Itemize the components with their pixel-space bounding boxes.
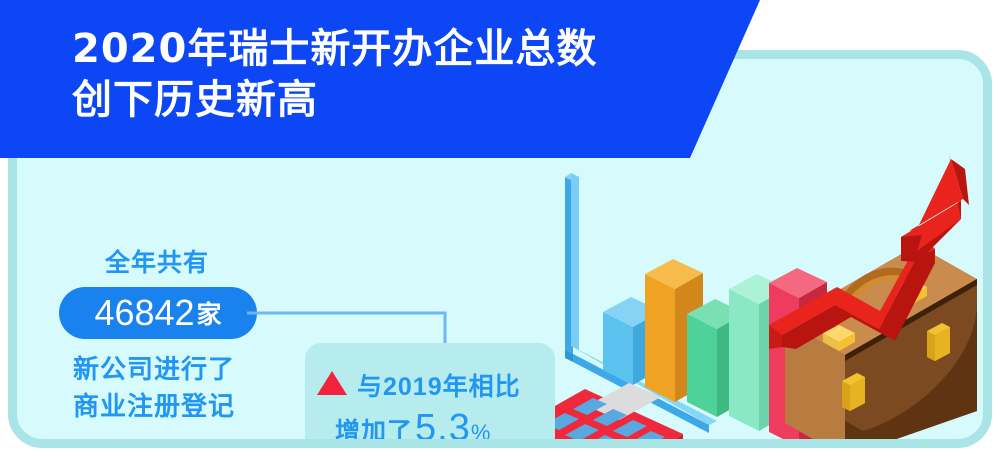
title-line-2: 创下历史新高 — [72, 75, 712, 126]
callout-percent-sign: % — [471, 420, 492, 446]
triangle-up-icon — [317, 371, 347, 395]
lead-label: 全年共有 — [105, 243, 209, 279]
callout-prefix: 增加了 — [335, 412, 413, 448]
sub-line-2: 商业注册登记 — [73, 388, 235, 425]
total-count-value: 46842 — [94, 292, 194, 334]
callout-line-1: 与2019年相比 — [357, 367, 521, 403]
total-count-pill: 46842 家 — [59, 287, 257, 339]
callout-line-2: 增加了 5.3 % — [335, 407, 491, 448]
title-line-1: 2020年瑞士新开办企业总数 — [72, 24, 712, 75]
callout-value: 5.3 — [415, 407, 471, 448]
briefcase-icon — [785, 245, 977, 448]
sub-description: 新公司进行了 商业注册登记 — [73, 351, 235, 425]
page-title: 2020年瑞士新开办企业总数 创下历史新高 — [72, 24, 712, 126]
infographic-root: 全年共有 46842 家 新公司进行了 商业注册登记 与2019年相比 增加了 … — [0, 0, 1000, 456]
sub-line-1: 新公司进行了 — [73, 351, 235, 388]
total-count-unit: 家 — [197, 295, 222, 331]
